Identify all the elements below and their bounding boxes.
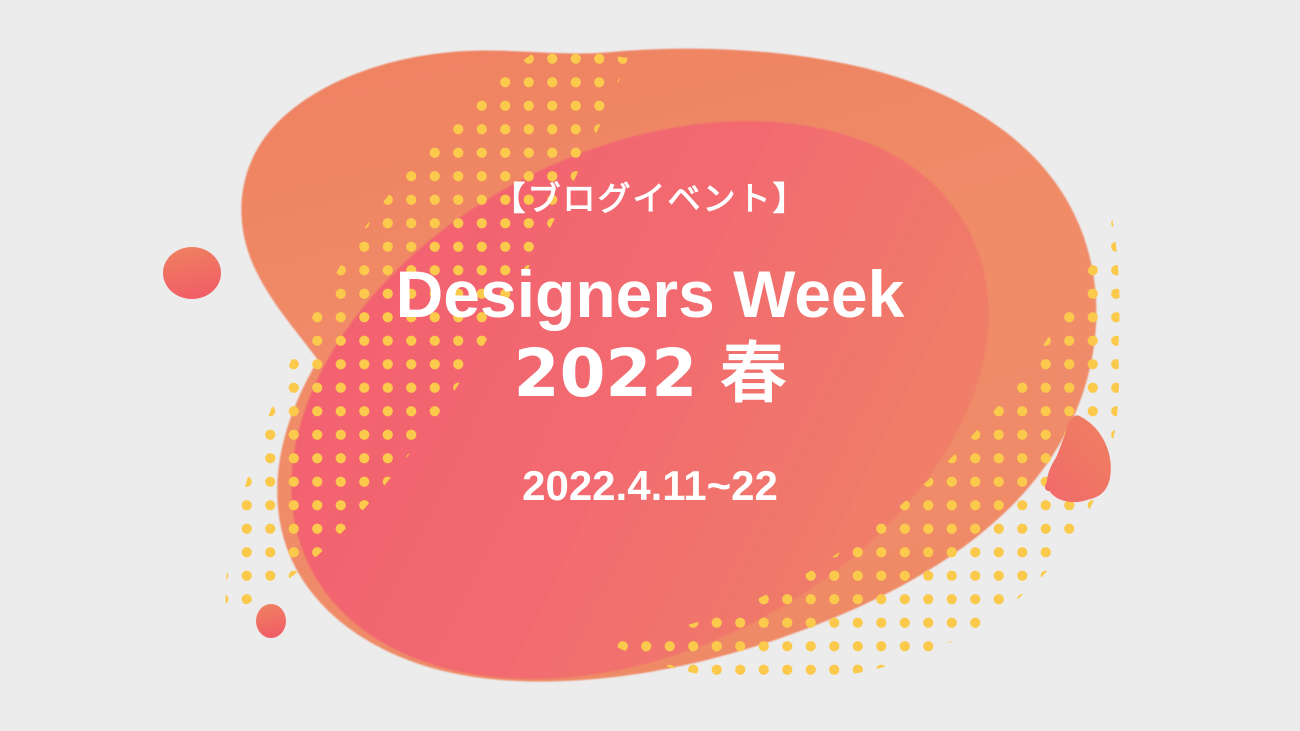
bottom-left-circle bbox=[256, 604, 286, 638]
decorative-artwork bbox=[0, 0, 1300, 731]
event-banner: 【ブログイベント】 Designers Week 2022 春 2022.4.1… bbox=[0, 0, 1300, 731]
left-small-ellipse bbox=[163, 247, 221, 299]
